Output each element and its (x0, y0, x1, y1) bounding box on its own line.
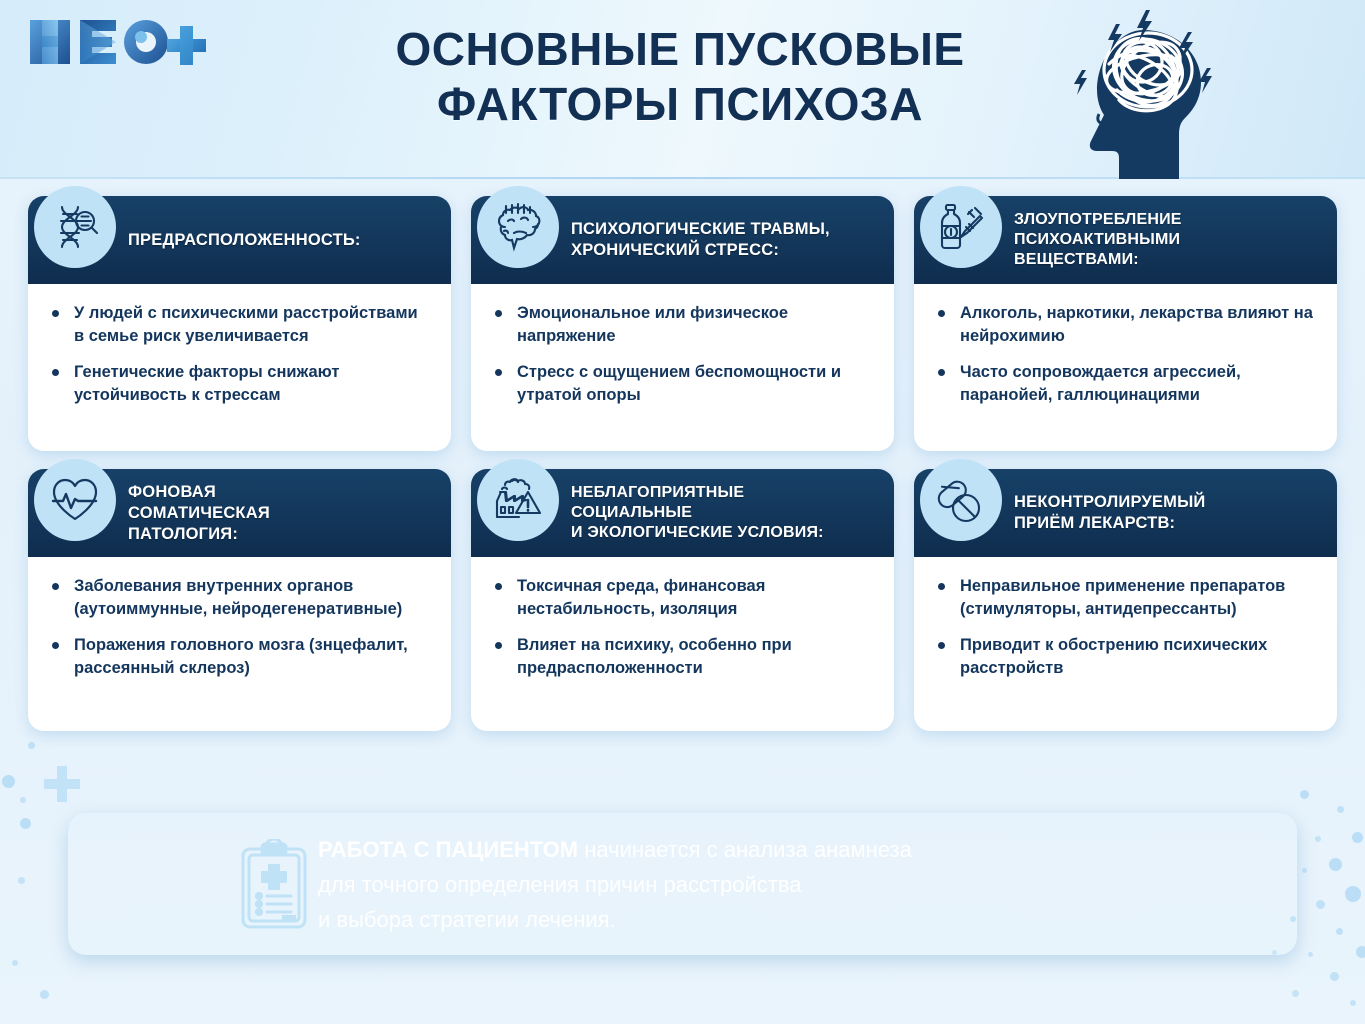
card-psychological-trauma[interactable]: ПСИХОЛОГИЧЕСКИЕ ТРАВМЫ, ХРОНИЧЕСКИЙ СТРЕ… (471, 196, 894, 451)
title-line-2: ФАКТОРЫ ПСИХОЗА (300, 77, 1060, 132)
bullet-list: Заболевания внутренних органов (аутоимму… (50, 575, 431, 680)
card-title: НЕБЛАГОПРИЯТНЫЕ СОЦИАЛЬНЫЕ И ЭКОЛОГИЧЕСК… (571, 483, 824, 543)
title-line: ПАТОЛОГИЯ: (128, 525, 238, 543)
cards-row-2: ФОНОВАЯ СОМАТИЧЕСКАЯ ПАТОЛОГИЯ: Заболева… (28, 469, 1337, 731)
factory-warning-icon (477, 459, 559, 541)
banner-line-2: для точного определения причин расстройс… (318, 867, 912, 902)
pills-icon (920, 459, 1002, 541)
banner-line-1: РАБОТА С ПАЦИЕНТОМ начинается с анализа … (318, 832, 912, 867)
title-line: ФОНОВАЯ (128, 483, 216, 501)
head-tangled-brain-illustration (1047, 2, 1247, 179)
title-line: НЕБЛАГОПРИЯТНЫЕ (571, 484, 744, 501)
card-header: ПРЕДРАСПОЛОЖЕННОСТЬ: (28, 196, 451, 284)
cards-row-1: ПРЕДРАСПОЛОЖЕННОСТЬ: У людей с психическ… (28, 196, 1337, 451)
bullet-list: Алкоголь, наркотики, лекарства влияют на… (936, 302, 1317, 407)
title-line: ПРЕДРАСПОЛОЖЕННОСТЬ: (128, 231, 361, 249)
list-item: Влияет на психику, особенно при предрасп… (493, 634, 874, 680)
card-title: ПСИХОЛОГИЧЕСКИЕ ТРАВМЫ, ХРОНИЧЕСКИЙ СТРЕ… (571, 219, 830, 261)
plus-icon (42, 764, 82, 804)
card-body: У людей с психическими расстройствами в … (28, 284, 451, 428)
card-header: НЕКОНТРОЛИРУЕМЫЙ ПРИЁМ ЛЕКАРСТВ: (914, 469, 1337, 557)
list-item: У людей с психическими расстройствами в … (50, 302, 431, 348)
card-title: НЕКОНТРОЛИРУЕМЫЙ ПРИЁМ ЛЕКАРСТВ: (1014, 492, 1205, 534)
card-body: Заболевания внутренних органов (аутоимму… (28, 557, 451, 701)
list-item: Поражения головного мозга (знцефалит, ра… (50, 634, 431, 680)
title-line: И ЭКОЛОГИЧЕСКИЕ УСЛОВИЯ: (571, 524, 824, 541)
brand-logo[interactable] (28, 14, 208, 72)
banner-line-3: и выбора стратегии лечения. (318, 902, 912, 937)
bottle-syringe-icon (920, 186, 1002, 268)
infographic-page: ОСНОВНЫЕ ПУСКОВЫЕ ФАКТОРЫ ПСИХОЗА (0, 0, 1365, 1024)
page-header: ОСНОВНЫЕ ПУСКОВЫЕ ФАКТОРЫ ПСИХОЗА (0, 0, 1365, 179)
clipboard-medical-icon (238, 839, 310, 931)
title-line: ВЕЩЕСТВАМИ: (1014, 251, 1139, 268)
card-social-ecological[interactable]: НЕБЛАГОПРИЯТНЫЕ СОЦИАЛЬНЫЕ И ЭКОЛОГИЧЕСК… (471, 469, 894, 731)
list-item: Токсичная среда, финансовая нестабильнос… (493, 575, 874, 621)
list-item: Часто сопровождается агрессией, паранойе… (936, 361, 1317, 407)
title-line: НЕКОНТРОЛИРУЕМЫЙ (1014, 493, 1205, 511)
title-line: ПСИХОЛОГИЧЕСКИЕ ТРАВМЫ, (571, 220, 830, 238)
card-uncontrolled-medication[interactable]: НЕКОНТРОЛИРУЕМЫЙ ПРИЁМ ЛЕКАРСТВ: Неправи… (914, 469, 1337, 731)
list-item: Неправильное применение препаратов (стим… (936, 575, 1317, 621)
title-line: ХРОНИЧЕСКИЙ СТРЕСС: (571, 241, 779, 259)
bullet-list: Неправильное применение препаратов (стим… (936, 575, 1317, 680)
card-header: ФОНОВАЯ СОМАТИЧЕСКАЯ ПАТОЛОГИЯ: (28, 469, 451, 557)
card-somatic-pathology[interactable]: ФОНОВАЯ СОМАТИЧЕСКАЯ ПАТОЛОГИЯ: Заболева… (28, 469, 451, 731)
card-body: Эмоциональное или физическое напряжение … (471, 284, 894, 428)
list-item: Заболевания внутренних органов (аутоимму… (50, 575, 431, 621)
banner-strong: РАБОТА С ПАЦИЕНТОМ (318, 837, 578, 862)
list-item: Стресс с ощущением беспомощности и утрат… (493, 361, 874, 407)
card-title: ЗЛОУПОТРЕБЛЕНИЕ ПСИХОАКТИВНЫМИ ВЕЩЕСТВАМ… (1014, 210, 1182, 270)
list-item: Алкоголь, наркотики, лекарства влияют на… (936, 302, 1317, 348)
card-body: Токсичная среда, финансовая нестабильнос… (471, 557, 894, 701)
card-body: Неправильное применение препаратов (стим… (914, 557, 1337, 701)
card-predisposition[interactable]: ПРЕДРАСПОЛОЖЕННОСТЬ: У людей с психическ… (28, 196, 451, 451)
title-line: СОЦИАЛЬНЫЕ (571, 504, 692, 521)
bullet-list: Токсичная среда, финансовая нестабильнос… (493, 575, 874, 680)
card-body: Алкоголь, наркотики, лекарства влияют на… (914, 284, 1337, 428)
card-substance-abuse[interactable]: ЗЛОУПОТРЕБЛЕНИЕ ПСИХОАКТИВНЫМИ ВЕЩЕСТВАМ… (914, 196, 1337, 451)
stressed-brain-icon (477, 186, 559, 268)
bullet-list: У людей с психическими расстройствами в … (50, 302, 431, 407)
bullet-list: Эмоциональное или физическое напряжение … (493, 302, 874, 407)
list-item: Генетические факторы снижают устойчивост… (50, 361, 431, 407)
card-header: НЕБЛАГОПРИЯТНЫЕ СОЦИАЛЬНЫЕ И ЭКОЛОГИЧЕСК… (471, 469, 894, 557)
page-title: ОСНОВНЫЕ ПУСКОВЫЕ ФАКТОРЫ ПСИХОЗА (300, 22, 1060, 132)
heart-pulse-icon (34, 459, 116, 541)
banner-line-1-rest: начинается с анализа анамнеза (578, 837, 912, 862)
card-title: ПРЕДРАСПОЛОЖЕННОСТЬ: (128, 230, 361, 251)
title-line: ЗЛОУПОТРЕБЛЕНИЕ (1014, 211, 1182, 228)
list-item: Эмоциональное или физическое напряжение (493, 302, 874, 348)
card-title: ФОНОВАЯ СОМАТИЧЕСКАЯ ПАТОЛОГИЯ: (128, 482, 270, 545)
title-line-1: ОСНОВНЫЕ ПУСКОВЫЕ (300, 22, 1060, 77)
list-item: Приводит к обострению психических расстр… (936, 634, 1317, 680)
title-line: ПСИХОАКТИВНЫМИ (1014, 231, 1180, 248)
card-header: ЗЛОУПОТРЕБЛЕНИЕ ПСИХОАКТИВНЫМИ ВЕЩЕСТВАМ… (914, 196, 1337, 284)
dna-magnifier-icon (34, 186, 116, 268)
card-header: ПСИХОЛОГИЧЕСКИЕ ТРАВМЫ, ХРОНИЧЕСКИЙ СТРЕ… (471, 196, 894, 284)
title-line: ПРИЁМ ЛЕКАРСТВ: (1014, 514, 1175, 532)
footer-banner: РАБОТА С ПАЦИЕНТОМ начинается с анализа … (68, 813, 1297, 955)
banner-text: РАБОТА С ПАЦИЕНТОМ начинается с анализа … (318, 832, 912, 937)
factor-cards-grid: ПРЕДРАСПОЛОЖЕННОСТЬ: У людей с психическ… (28, 196, 1337, 749)
title-line: СОМАТИЧЕСКАЯ (128, 504, 270, 522)
